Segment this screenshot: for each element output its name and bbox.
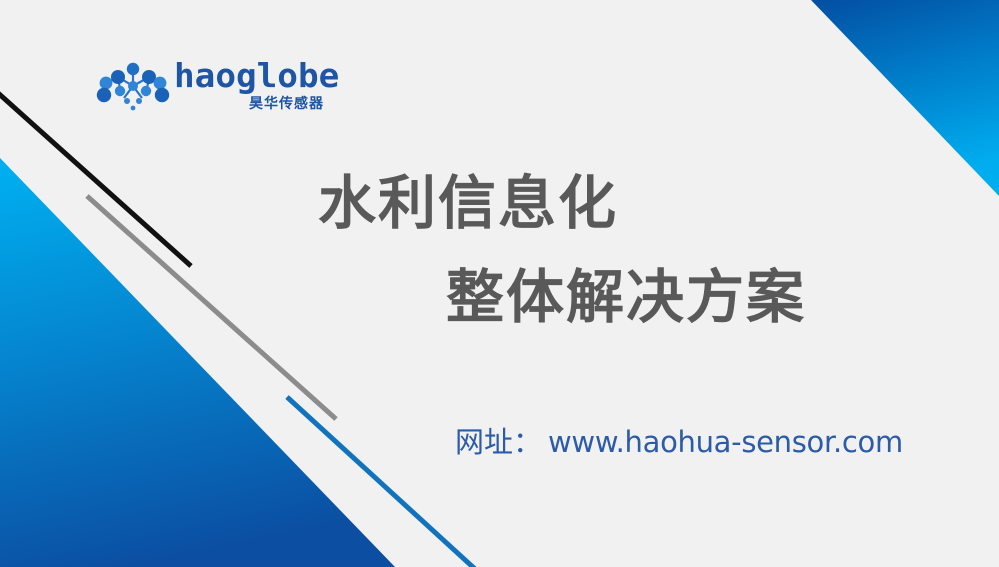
- brand-logo: haoglobe 昊华传感器: [96, 58, 326, 126]
- website-url[interactable]: www.haohua-sensor.com: [548, 420, 903, 464]
- website-line: 网址： www.haohua-sensor.com: [455, 420, 903, 464]
- presentation-slide: haoglobe 昊华传感器 水利信息化 整体解决方案 网址： www.haoh…: [0, 0, 999, 567]
- logo-wordmark: haoglobe: [174, 58, 330, 94]
- page-title-line-2: 整体解决方案: [446, 262, 806, 334]
- network-nodes-logo-mark: [96, 60, 170, 116]
- page-title-line-1: 水利信息化: [318, 168, 618, 240]
- top-right-blue-triangle: [811, 0, 999, 196]
- logo-subtitle: 昊华传感器: [174, 95, 324, 113]
- logo-text: haoglobe 昊华传感器: [174, 58, 324, 120]
- website-label: 网址：: [455, 420, 542, 464]
